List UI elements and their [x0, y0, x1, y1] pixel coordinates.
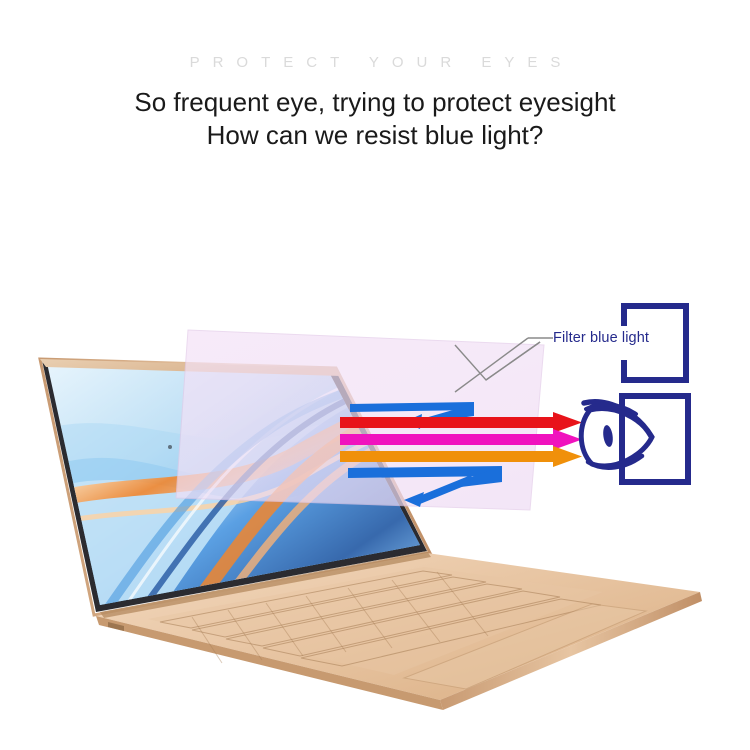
eye-frame: [622, 396, 688, 482]
filter-blue-light-label: Filter blue light: [553, 330, 649, 346]
eye-pupil: [602, 424, 614, 447]
illustration: [0, 0, 750, 750]
page-root: PROTECT YOUR EYES So frequent eye, tryin…: [0, 0, 750, 750]
eye-icon: [581, 402, 652, 468]
laptop-webcam: [168, 445, 172, 449]
